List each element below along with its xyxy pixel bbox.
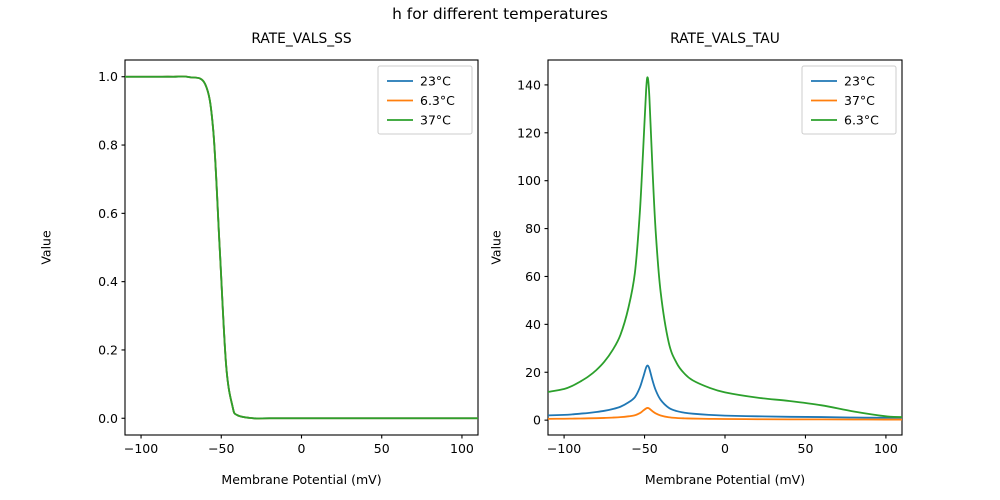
left-legend-label-3: 37°C bbox=[420, 113, 451, 128]
plot-canvas: −100−500501000.00.20.40.60.81.023°C6.3°C… bbox=[0, 0, 1000, 500]
left-y-tick-label: 0.4 bbox=[98, 274, 118, 289]
right-legend-label-1: 23°C bbox=[844, 74, 875, 89]
left-y-tick-label: 0.6 bbox=[98, 206, 118, 221]
right-y-tick-label: 60 bbox=[525, 269, 541, 284]
right-x-tick-label: 100 bbox=[874, 441, 898, 456]
left-x-tick-label: −50 bbox=[208, 441, 234, 456]
right-y-tick-label: 120 bbox=[517, 125, 541, 140]
left-x-tick-label: 50 bbox=[374, 441, 390, 456]
right-y-tick-label: 80 bbox=[525, 221, 541, 236]
left-y-tick-label: 0.0 bbox=[98, 411, 118, 426]
right-x-tick-label: 50 bbox=[798, 441, 814, 456]
left-axes: −100−500501000.00.20.40.60.81.023°C6.3°C… bbox=[98, 60, 478, 456]
right-y-tick-label: 0 bbox=[533, 413, 541, 428]
right-x-tick-label: −100 bbox=[547, 441, 581, 456]
right-legend[interactable]: 23°C37°C6.3°C bbox=[802, 66, 896, 134]
right-y-tick-label: 140 bbox=[517, 77, 541, 92]
left-y-tick-label: 0.8 bbox=[98, 138, 118, 153]
right-y-tick-label: 20 bbox=[525, 365, 541, 380]
left-x-tick-label: 100 bbox=[450, 441, 474, 456]
left-y-tick-label: 1.0 bbox=[98, 69, 118, 84]
left-x-tick-label: 0 bbox=[298, 441, 306, 456]
right-axes: −100−5005010002040608010012014023°C37°C6… bbox=[517, 60, 902, 456]
matplotlib-figure: h for different temperatures RATE_VALS_S… bbox=[0, 0, 1000, 500]
left-x-tick-label: −100 bbox=[124, 441, 158, 456]
left-legend-label-2: 6.3°C bbox=[420, 93, 455, 108]
right-x-tick-label: 0 bbox=[721, 441, 729, 456]
right-legend-label-2: 37°C bbox=[844, 93, 875, 108]
right-legend-label-3: 6.3°C bbox=[844, 113, 879, 128]
left-legend-label-1: 23°C bbox=[420, 74, 451, 89]
left-legend[interactable]: 23°C6.3°C37°C bbox=[378, 66, 472, 134]
right-y-tick-label: 100 bbox=[517, 173, 541, 188]
right-x-tick-label: −50 bbox=[631, 441, 657, 456]
left-y-tick-label: 0.2 bbox=[98, 342, 118, 357]
right-y-tick-label: 40 bbox=[525, 317, 541, 332]
